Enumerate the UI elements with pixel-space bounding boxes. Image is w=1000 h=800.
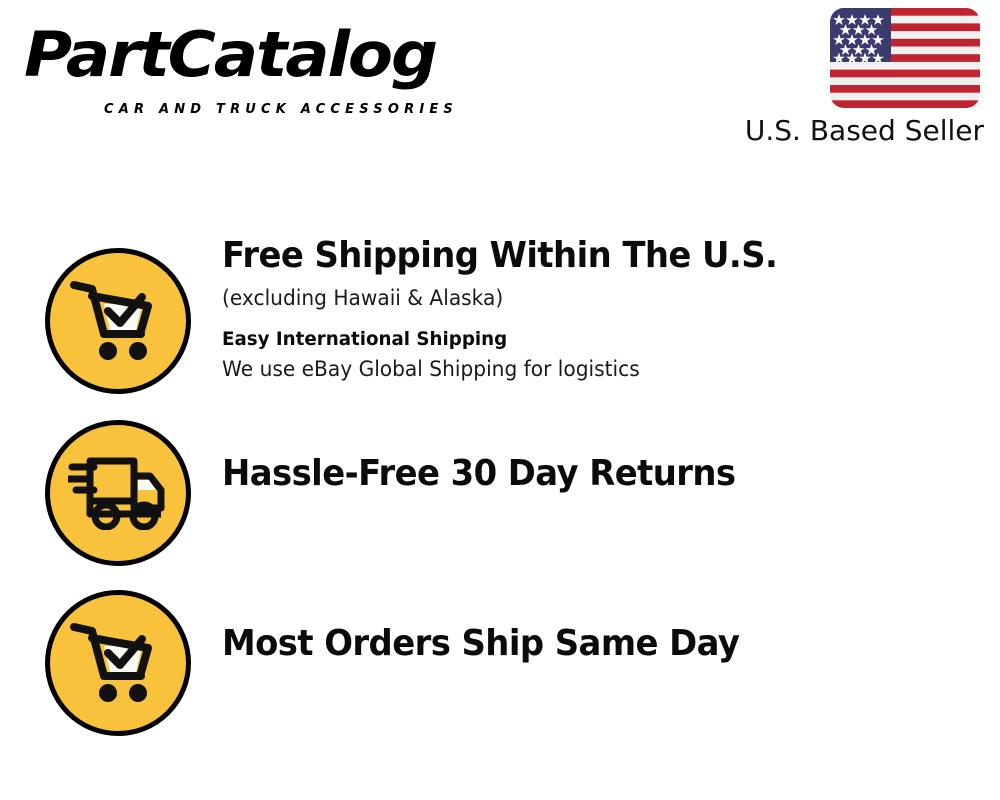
feature-row: Hassle-Free 30 Day Returns [0, 410, 1000, 580]
brand-logo[interactable]: PartCatalog CAR AND TRUCK ACCESSORIES [24, 18, 494, 118]
delivery-truck-icon [45, 420, 191, 566]
cart-check-icon [45, 590, 191, 736]
feature-row: Most Orders Ship Same Day [0, 580, 1000, 750]
feature-secondary-title: Easy International Shipping [222, 326, 952, 352]
us-flag-icon [830, 8, 980, 108]
feature-text-block: Most Orders Ship Same Day [222, 622, 982, 666]
feature-secondary-subtitle: We use eBay Global Shipping for logistic… [222, 355, 952, 383]
feature-title: Hassle-Free 30 Day Returns [222, 452, 936, 496]
cart-check-icon [45, 248, 191, 394]
feature-title: Most Orders Ship Same Day [222, 622, 936, 666]
us-based-seller-label: U.S. Based Seller [716, 114, 984, 148]
brand-tagline: CAR AND TRUCK ACCESSORIES [104, 102, 458, 118]
feature-text-block: Hassle-Free 30 Day Returns [222, 452, 982, 496]
us-based-seller-badge: U.S. Based Seller [716, 8, 986, 148]
feature-title: Free Shipping Within The U.S. [222, 234, 936, 278]
feature-row: Free Shipping Within The U.S. (excluding… [0, 230, 1000, 410]
brand-wordmark: PartCatalog [24, 18, 436, 92]
feature-subtitle: (excluding Hawaii & Alaska) [222, 284, 952, 312]
page-header: PartCatalog CAR AND TRUCK ACCESSORIES [0, 0, 1000, 170]
feature-text-block: Free Shipping Within The U.S. (excluding… [222, 234, 982, 383]
